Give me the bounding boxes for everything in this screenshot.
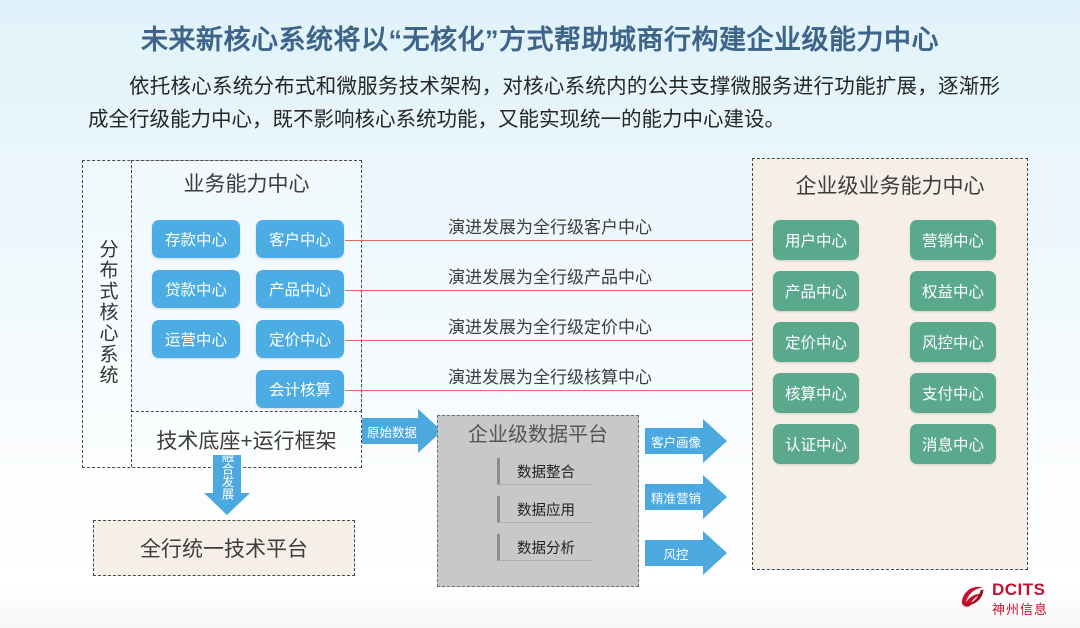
- chip-customer-center[interactable]: 客户中心: [256, 220, 344, 258]
- dcits-logo: DCITS 神州信息: [958, 578, 1070, 620]
- evolution-arrow-customer: [345, 240, 770, 241]
- evolution-arrow-product: [345, 290, 770, 291]
- unified-technology-platform-label: 全行统一技术平台: [140, 533, 308, 563]
- output-arrow-label-precision-marketing: 精准营销: [645, 484, 707, 510]
- data-platform-item-integration[interactable]: 数据整合: [497, 458, 592, 485]
- evolution-arrow-pricing: [345, 340, 770, 341]
- output-arrow-label-customer-profile: 客户画像: [645, 428, 707, 454]
- integration-down-arrow-label: 融合发展: [213, 455, 241, 495]
- chip-deposit-center[interactable]: 存款中心: [152, 220, 240, 258]
- page-subtitle: 依托核心系统分布式和微服务技术架构，对核心系统内的公共支撑微服务进行功能扩展，逐…: [88, 70, 1000, 136]
- chip-loan-center[interactable]: 贷款中心: [152, 270, 240, 308]
- chip-pricing-center[interactable]: 定价中心: [256, 320, 344, 358]
- unified-technology-platform-box: 全行统一技术平台: [93, 520, 355, 576]
- chip-marketing-center[interactable]: 营销中心: [910, 220, 996, 260]
- raw-data-arrow-label: 原始数据: [362, 418, 422, 444]
- enterprise-capability-center-title: 企业级业务能力中心: [752, 170, 1028, 200]
- chip-operation-center[interactable]: 运营中心: [152, 320, 240, 358]
- chip-ent-product-center[interactable]: 产品中心: [773, 271, 859, 311]
- logo-en-text: DCITS: [992, 580, 1046, 600]
- evolution-label-product: 演进发展为全行级产品中心: [435, 263, 665, 288]
- chip-ent-accounting-center[interactable]: 核算中心: [773, 373, 859, 413]
- evolution-label-pricing: 演进发展为全行级定价中心: [435, 313, 665, 338]
- chip-product-center[interactable]: 产品中心: [256, 270, 344, 308]
- chip-ent-pricing-center[interactable]: 定价中心: [773, 322, 859, 362]
- chip-rights-center[interactable]: 权益中心: [910, 271, 996, 311]
- chip-user-center[interactable]: 用户中心: [773, 220, 859, 260]
- data-platform-item-application[interactable]: 数据应用: [497, 496, 592, 523]
- chip-message-center[interactable]: 消息中心: [910, 424, 996, 464]
- output-arrow-label-risk-control: 风控: [645, 540, 707, 566]
- tech-base-label: 技术底座+运行框架: [131, 412, 362, 468]
- chip-accounting[interactable]: 会计核算: [256, 370, 344, 408]
- chip-risk-center[interactable]: 风控中心: [910, 322, 996, 362]
- page-title: 未来新核心系统将以“无核化”方式帮助城商行构建企业级能力中心: [0, 18, 1080, 57]
- evolution-label-accounting: 演进发展为全行级核算中心: [435, 363, 665, 388]
- logo-cn-text: 神州信息: [992, 599, 1048, 618]
- evolution-label-customer: 演进发展为全行级客户中心: [435, 213, 665, 238]
- slide-canvas: 未来新核心系统将以“无核化”方式帮助城商行构建企业级能力中心 依托核心系统分布式…: [0, 0, 1080, 628]
- distributed-core-system-label: 分布式核心系统: [84, 205, 130, 420]
- data-platform-item-analysis[interactable]: 数据分析: [497, 534, 592, 561]
- evolution-arrow-accounting: [345, 390, 770, 391]
- chip-payment-center[interactable]: 支付中心: [910, 373, 996, 413]
- chip-auth-center[interactable]: 认证中心: [773, 424, 859, 464]
- data-platform-title: 企业级数据平台: [437, 418, 639, 447]
- business-capability-center-title: 业务能力中心: [131, 168, 362, 198]
- dcits-swirl-icon: [958, 582, 988, 612]
